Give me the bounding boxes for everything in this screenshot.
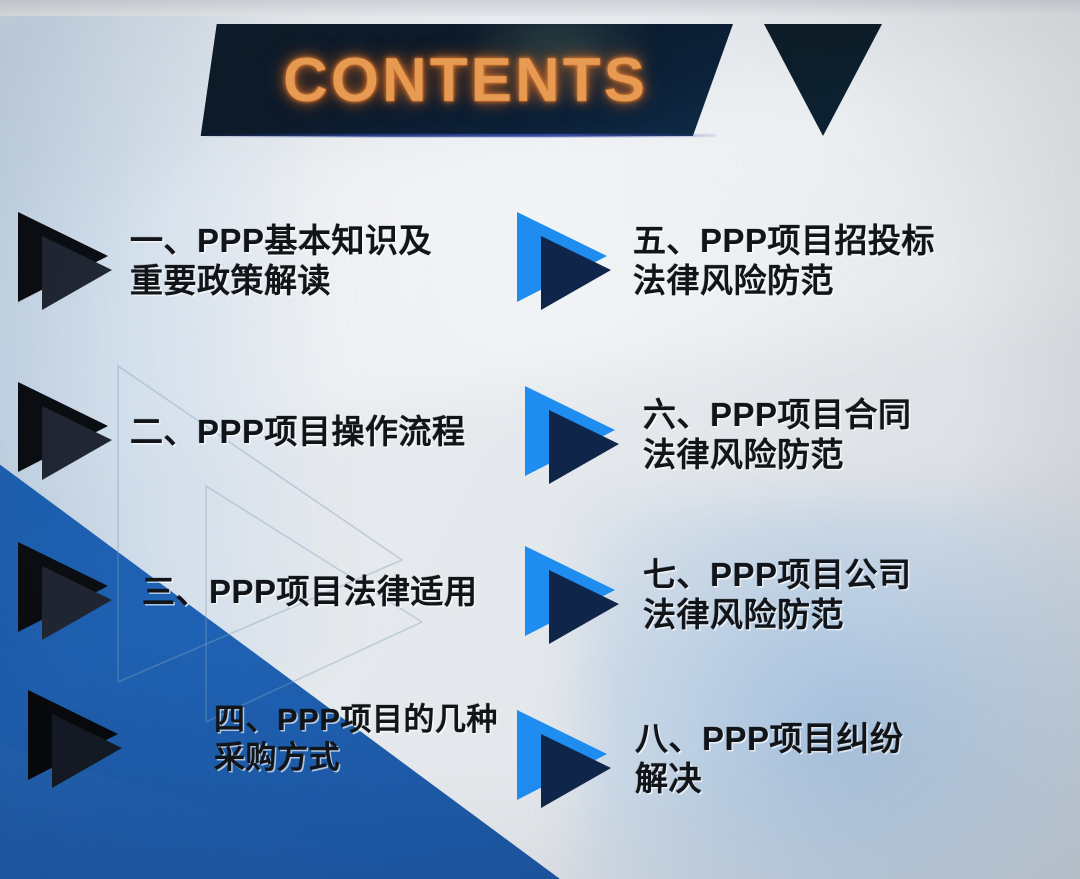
contents-item-4[interactable]: 四、PPP项目的几种 采购方式 [22,686,498,794]
contents-item-8[interactable]: 八、PPP项目纠纷 解决 [511,706,904,814]
double-triangle-dark-icon [12,208,120,316]
double-triangle-blue-icon [519,382,627,490]
right-column: 五、PPP项目招投标 法律风险防范 六、PPP项目合同 法律风险防范 [505,182,1010,879]
double-triangle-blue-icon [519,542,627,650]
contents-item-6[interactable]: 六、PPP项目合同 法律风险防范 [519,382,912,490]
contents-item-label: 八、PPP项目纠纷 解决 [635,719,904,800]
contents-item-label: 七、PPP项目公司 法律风险防范 [643,555,912,636]
page-title: CONTENTS [198,24,733,136]
contents-item-label: 一、PPP基本知识及 重要政策解读 [130,221,432,302]
header-banner: CONTENTS [0,0,1080,170]
contents-list: 一、PPP基本知识及 重要政策解读 二、PPP项目操作流程 [0,182,1080,879]
double-triangle-dark-icon [12,378,120,486]
contents-item-7[interactable]: 七、PPP项目公司 法律风险防范 [519,542,912,650]
contents-item-label: 四、PPP项目的几种 采购方式 [214,701,498,777]
contents-item-1[interactable]: 一、PPP基本知识及 重要政策解读 [12,208,432,316]
contents-item-5[interactable]: 五、PPP项目招投标 法律风险防范 [511,208,935,316]
contents-item-label: 三、PPP项目法律适用 [142,572,478,612]
double-triangle-dark-icon [22,686,130,794]
contents-item-label: 二、PPP项目操作流程 [130,412,466,452]
banner-notch-triangle-icon [764,24,882,136]
contents-item-label: 五、PPP项目招投标 法律风险防范 [633,221,935,302]
contents-item-2[interactable]: 二、PPP项目操作流程 [12,378,466,486]
contents-item-label: 六、PPP项目合同 法律风险防范 [643,395,912,476]
contents-item-3[interactable]: 三、PPP项目法律适用 [12,538,478,646]
double-triangle-dark-icon [12,538,120,646]
contents-slide: CONTENTS 一、PPP基本知识及 重要政策解读 [0,0,1080,879]
double-triangle-blue-icon [511,706,619,814]
double-triangle-blue-icon [511,208,619,316]
left-column: 一、PPP基本知识及 重要政策解读 二、PPP项目操作流程 [8,182,513,879]
